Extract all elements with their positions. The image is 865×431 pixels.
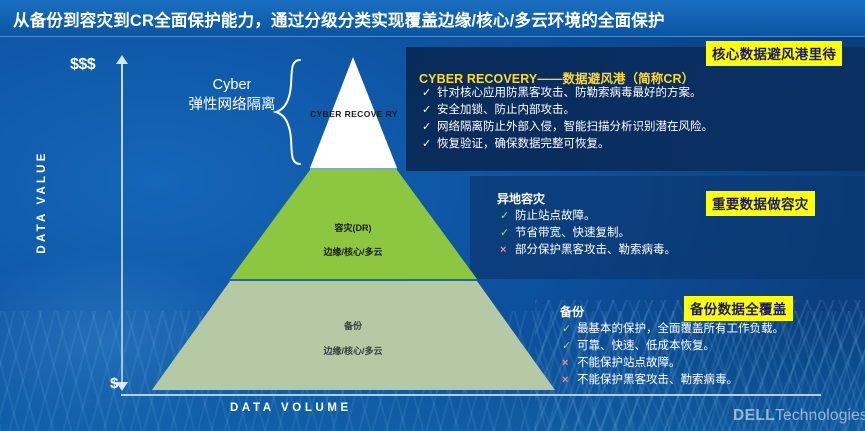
page-title: 从备份到容灾到CR全面保护能力，通过分级分类实现覆盖边缘/核心/多云环境的全面保…: [13, 7, 665, 31]
list-item: ✓ 网络隔离防止外部入侵，智能扫描分析识别潜在风险。: [422, 120, 713, 135]
bullet-list-disaster-recovery: ✓ 防止站点故障。 ✓ 节省带宽、快速复制。 × 部分保护黑客攻击、勒索病毒。: [500, 209, 676, 260]
section-heading-backup: 备份: [560, 303, 584, 320]
list-item: ✓ 最基本的保护，全面覆盖所有工作负载。: [562, 322, 784, 337]
section-heading-disaster-recovery: 异地容灾: [497, 190, 545, 207]
list-item-text: 针对核心应用防黑客攻击、防勒索病毒最好的方案。: [437, 86, 702, 101]
pyramid-label-backup: 备份 边缘/核心/多云: [278, 320, 428, 358]
list-item: ✓ 节省带宽、快速复制。: [500, 226, 676, 241]
y-axis-line: [121, 62, 123, 387]
check-icon: ✓: [422, 137, 437, 152]
list-item-text: 部分保护黑客攻击、勒索病毒。: [515, 243, 676, 258]
status-badge-cyber-recovery: 核心数据避风港里待: [706, 41, 842, 66]
pyramid-label-backup-main: 备份: [344, 321, 362, 331]
cross-icon: ×: [500, 243, 515, 258]
dell-logo-bold: DELL: [733, 407, 775, 424]
list-item-text: 不能保护站点故障。: [577, 356, 681, 371]
dell-technologies-logo: DELLTechnologies: [733, 407, 865, 425]
list-item: ✓ 针对核心应用防黑客攻击、防勒索病毒最好的方案。: [422, 86, 713, 101]
list-item-text: 恢复验证，确保数据完整可恢复。: [437, 137, 610, 152]
check-icon: ✓: [500, 226, 515, 241]
check-icon: ✓: [562, 322, 577, 337]
bullet-list-backup: ✓ 最基本的保护，全面覆盖所有工作负载。 ✓ 可靠、快速、低成本恢复。 × 不能…: [562, 322, 784, 390]
bullet-list-cyber-recovery: ✓ 针对核心应用防黑客攻击、防勒索病毒最好的方案。 ✓ 安全加锁、防止内部攻击。…: [422, 86, 713, 154]
list-item: ✓ 防止站点故障。: [500, 209, 676, 224]
dell-logo-rest: Technologies: [775, 407, 865, 424]
list-item: × 不能保护站点故障。: [562, 356, 784, 371]
y-axis-max-value: $$$: [70, 56, 95, 74]
check-icon: ✓: [422, 86, 437, 101]
y-axis-min-value: $: [110, 375, 118, 392]
y-axis-label: DATA VALUE: [36, 127, 48, 277]
check-icon: ✓: [422, 103, 437, 118]
section-heading-cyber-recovery: CYBER RECOVERY——数据避风港（简称CR）: [419, 68, 694, 87]
status-badge-backup: 备份数据全覆盖: [684, 296, 793, 321]
list-item-text: 最基本的保护，全面覆盖所有工作负载。: [577, 322, 784, 337]
pyramid-label-disaster-recovery: 容灾(DR) 边缘/核心/多云: [278, 222, 428, 259]
list-item: ✓ 安全加锁、防止内部攻击。: [422, 103, 713, 118]
check-icon: ✓: [422, 120, 437, 135]
pyramid-label-cyber-recovery: CYBER RECOVE RY: [300, 108, 408, 120]
check-icon: ✓: [562, 339, 577, 354]
cross-icon: ×: [562, 373, 577, 388]
check-icon: ✓: [500, 209, 515, 224]
pyramid-label-dr-main: 容灾(DR): [335, 223, 372, 233]
list-item-text: 不能保护黑客攻击、勒索病毒。: [577, 373, 738, 388]
curly-brace-icon: [272, 58, 306, 166]
list-item-text: 网络隔离防止外部入侵，智能扫描分析识别潜在风险。: [437, 120, 713, 135]
list-item-text: 防止站点故障。: [515, 209, 596, 224]
pyramid-label-backup-sub: 边缘/核心/多云: [278, 345, 428, 358]
slide-canvas: 从备份到容灾到CR全面保护能力，通过分级分类实现覆盖边缘/核心/多云环境的全面保…: [0, 0, 865, 431]
list-item-text: 可靠、快速、低成本恢复。: [577, 339, 715, 354]
list-item: ✓ 可靠、快速、低成本恢复。: [562, 339, 784, 354]
list-item: × 不能保护黑客攻击、勒索病毒。: [562, 373, 784, 388]
x-axis-line: [121, 394, 821, 396]
status-badge-disaster-recovery: 重要数据做容灾: [706, 191, 815, 216]
list-item-text: 节省带宽、快速复制。: [515, 226, 630, 241]
list-item-text: 安全加锁、防止内部攻击。: [437, 103, 575, 118]
cross-icon: ×: [562, 356, 577, 371]
x-axis-label: DATA VOLUME: [230, 402, 352, 414]
pyramid-label-dr-sub: 边缘/核心/多云: [278, 246, 428, 259]
list-item: × 部分保护黑客攻击、勒索病毒。: [500, 243, 676, 258]
list-item: ✓ 恢复验证，确保数据完整可恢复。: [422, 137, 713, 152]
